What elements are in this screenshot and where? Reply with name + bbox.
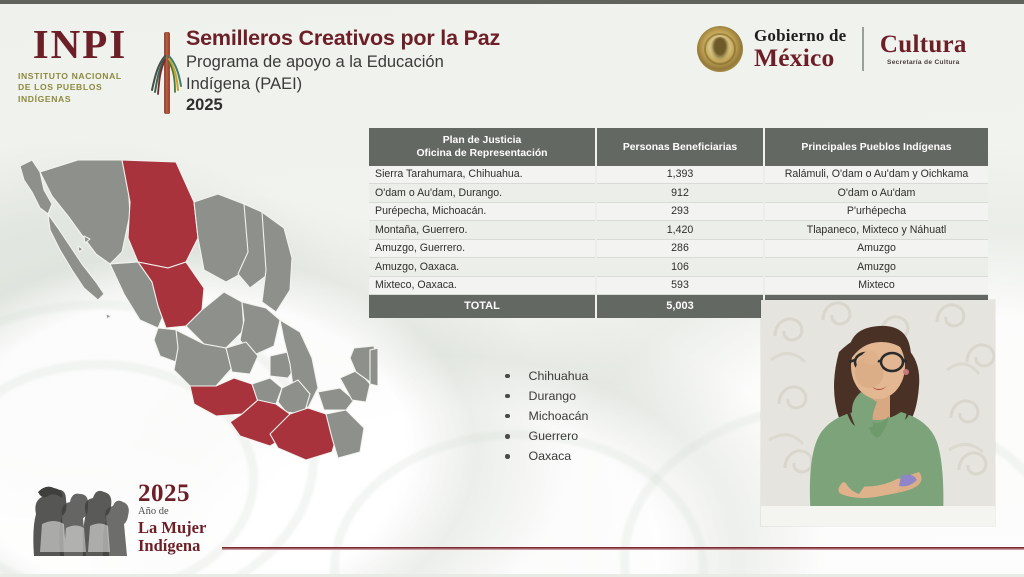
inpi-full-name: INSTITUTO NACIONAL DE LOS PUEBLOS INDÍGE… — [14, 71, 146, 105]
bullet-dot — [505, 394, 510, 399]
inpi-name-line-2: DE LOS PUEBLOS — [18, 82, 146, 93]
table-header-personas: Personas Beneficiarias — [596, 128, 764, 166]
four-indigenous-women-illustration — [28, 480, 132, 556]
cell-personas: 1,393 — [596, 166, 764, 184]
badge-text: 2025 Año de La Mujer Indígena — [138, 481, 206, 554]
list-item: Guerrero — [505, 426, 588, 446]
cell-plan: Purépecha, Michoacán. — [369, 202, 596, 220]
table-header-row: Plan de Justicia Oficina de Representaci… — [369, 128, 988, 166]
footer-rule — [222, 547, 1024, 550]
badge-ano-label: Año de — [138, 507, 206, 518]
cell-personas: 106 — [596, 258, 764, 276]
cell-pueblos: Mixteco — [764, 276, 988, 294]
bullet-dot — [505, 414, 510, 419]
subtitle-line-1: Programa de apoyo a la Educación — [186, 52, 586, 72]
bullet-dot — [505, 454, 510, 459]
slide-canvas: INPI INSTITUTO NACIONAL DE LOS PUEBLOS I… — [0, 0, 1024, 577]
mexico-coat-of-arms-icon — [697, 26, 743, 72]
inpi-name-line-1: INSTITUTO NACIONAL — [18, 71, 146, 82]
cell-personas: 293 — [596, 202, 764, 220]
cell-personas: 286 — [596, 239, 764, 257]
table-row: Purépecha, Michoacán. 293 P'urhépecha — [369, 202, 988, 220]
table-row: Montaña, Guerrero. 1,420 Tlapaneco, Mixt… — [369, 221, 988, 239]
beneficiaries-table: Plan de Justicia Oficina de Representaci… — [369, 128, 988, 318]
table-header-plan-line-1: Plan de Justicia — [373, 134, 591, 147]
cell-pueblos: Tlapaneco, Mixteco y Náhuatl — [764, 221, 988, 239]
gobierno-text: Gobierno de México — [754, 27, 846, 71]
list-item: Chihuahua — [505, 366, 588, 386]
colored-ribbons-staff-icon — [150, 30, 184, 116]
state-label: Michoacán — [529, 406, 589, 426]
gobierno-line-1: Gobierno de — [754, 27, 846, 44]
table-header-pueblos: Principales Pueblos Indígenas — [764, 128, 988, 166]
badge-year: 2025 — [138, 481, 206, 506]
badge-line-1: La Mujer — [138, 519, 206, 536]
cell-pueblos: P'urhépecha — [764, 202, 988, 220]
mujer-indigena-badge: 2025 Año de La Mujer Indígena — [28, 478, 218, 558]
cultura-subtitle: Secretaría de Cultura — [880, 60, 967, 67]
inpi-acronym: INPI — [14, 24, 146, 65]
cell-plan: Mixteco, Oaxaca. — [369, 276, 596, 294]
list-item: Durango — [505, 386, 588, 406]
cell-personas: 593 — [596, 276, 764, 294]
mexico-map — [18, 142, 378, 492]
cell-personas: 912 — [596, 184, 764, 202]
table-header-plan-line-2: Oficina de Representación — [373, 147, 591, 160]
cell-personas: 1,420 — [596, 221, 764, 239]
cultura-title: Cultura — [880, 32, 967, 57]
cell-pueblos: Amuzgo — [764, 258, 988, 276]
video-lower-strip — [761, 506, 995, 526]
table-row: Amuzgo, Guerrero. 286 Amuzgo — [369, 239, 988, 257]
inpi-name-line-3: INDÍGENAS — [18, 94, 146, 105]
cultura-logo: Cultura Secretaría de Cultura — [880, 32, 967, 67]
cell-plan: O'dam o Au'dam, Durango. — [369, 184, 596, 202]
table-row: O'dam o Au'dam, Durango. 912 O'dam o Au'… — [369, 184, 988, 202]
table-row: Amuzgo, Oaxaca. 106 Amuzgo — [369, 258, 988, 276]
cell-pueblos: O'dam o Au'dam — [764, 184, 988, 202]
list-item: Michoacán — [505, 406, 588, 426]
bullet-dot — [505, 374, 510, 379]
total-label: TOTAL — [369, 295, 596, 318]
cell-pueblos: Ralámuli, O'dam o Au'dam y Oichkama — [764, 166, 988, 184]
list-item: Oaxaca — [505, 446, 588, 466]
page-title: Semilleros Creativos por la Paz — [186, 26, 586, 50]
table-header-plan: Plan de Justicia Oficina de Representaci… — [369, 128, 596, 166]
state-label: Guerrero — [529, 426, 579, 446]
sign-language-interpreter-video[interactable] — [761, 300, 995, 526]
cell-pueblos: Amuzgo — [764, 239, 988, 257]
gobierno-line-2: México — [754, 45, 846, 71]
cell-plan: Amuzgo, Guerrero. — [369, 239, 596, 257]
map-state-chihuahua — [122, 160, 198, 268]
top-letterbox-bar — [0, 0, 1024, 4]
cell-plan: Montaña, Guerrero. — [369, 221, 596, 239]
table-body: Sierra Tarahumara, Chihuahua. 1,393 Ralá… — [369, 166, 988, 318]
logo-divider — [862, 27, 864, 71]
title-year: 2025 — [186, 96, 586, 116]
cell-plan: Amuzgo, Oaxaca. — [369, 258, 596, 276]
table-row: Mixteco, Oaxaca. 593 Mixteco — [369, 276, 988, 294]
map-state-sonora — [40, 160, 130, 264]
subtitle-line-2: Indígena (PAEI) — [186, 74, 586, 94]
badge-line-2: Indígena — [138, 537, 206, 554]
state-label: Chihuahua — [529, 366, 589, 386]
bullet-dot — [505, 434, 510, 439]
state-label: Durango — [529, 386, 577, 406]
total-personas: 5,003 — [596, 295, 764, 318]
inpi-logo: INPI INSTITUTO NACIONAL DE LOS PUEBLOS I… — [14, 24, 146, 105]
title-block: Semilleros Creativos por la Paz Programa… — [186, 26, 586, 116]
gobierno-de-mexico-logo: Gobierno de México Cultura Secretaría de… — [697, 26, 967, 72]
map-state-quintana-roo — [370, 348, 378, 386]
table-row: Sierra Tarahumara, Chihuahua. 1,393 Ralá… — [369, 166, 988, 184]
interpreter-figure — [761, 300, 995, 526]
states-bullet-list: Chihuahua Durango Michoacán Guerrero Oax… — [505, 366, 588, 466]
map-state-tamaulipas — [262, 212, 292, 312]
cell-plan: Sierra Tarahumara, Chihuahua. — [369, 166, 596, 184]
state-label: Oaxaca — [529, 446, 572, 466]
